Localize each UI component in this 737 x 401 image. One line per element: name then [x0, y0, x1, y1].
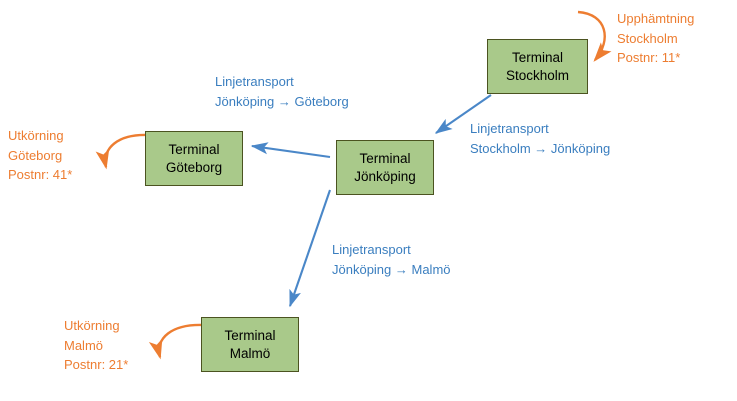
label-sj-route: Stockholm → Jönköping — [470, 139, 610, 159]
annotation-malmo-action: Utkörning — [64, 316, 128, 336]
node-terminal-stockholm[interactable]: Terminal Stockholm — [487, 39, 588, 94]
node-terminal-jonkoping[interactable]: Terminal Jönköping — [336, 140, 434, 195]
node-stockholm-line1: Terminal — [512, 49, 563, 67]
label-jm-type: Linjetransport — [332, 240, 451, 260]
label-jg-type: Linjetransport — [215, 72, 349, 92]
arrow-jonkoping-malmo — [290, 190, 330, 306]
annotation-stockholm-action: Upphämtning — [617, 9, 694, 29]
annotation-goteborg-action: Utkörning — [8, 126, 72, 146]
annotation-goteborg-city: Göteborg — [8, 146, 72, 166]
node-goteborg-line1: Terminal — [168, 141, 219, 159]
node-terminal-goteborg[interactable]: Terminal Göteborg — [145, 131, 243, 186]
annotation-upphamtning-stockholm: Upphämtning Stockholm Postnr: 11* — [617, 9, 694, 68]
label-jg-route: Jönköping → Göteborg — [215, 92, 349, 112]
arrow-utkorning-goteborg — [105, 135, 148, 167]
node-jonkoping-line1: Terminal — [359, 150, 410, 168]
label-jm-route: Jönköping → Malmö — [332, 260, 451, 280]
annotation-stockholm-city: Stockholm — [617, 29, 694, 49]
annotation-stockholm-postnr: Postnr: 11* — [617, 48, 694, 68]
annotation-malmo-city: Malmö — [64, 336, 128, 356]
annotation-goteborg-postnr: Postnr: 41* — [8, 165, 72, 185]
arrow-utkorning-malmo — [159, 325, 203, 357]
node-terminal-malmo[interactable]: Terminal Malmö — [201, 317, 299, 372]
node-jonkoping-line2: Jönköping — [354, 168, 416, 186]
label-linjetransport-jonkoping-malmo: Linjetransport Jönköping → Malmö — [332, 240, 451, 279]
label-sj-type: Linjetransport — [470, 119, 610, 139]
node-stockholm-line2: Stockholm — [506, 67, 569, 85]
annotation-malmo-postnr: Postnr: 21* — [64, 355, 128, 375]
transport-network-diagram: Terminal Stockholm Terminal Göteborg Ter… — [0, 0, 737, 401]
arrow-jonkoping-goteborg — [252, 146, 330, 157]
node-goteborg-line2: Göteborg — [166, 159, 222, 177]
node-malmo-line2: Malmö — [230, 345, 271, 363]
node-malmo-line1: Terminal — [224, 327, 275, 345]
label-linjetransport-jonkoping-goteborg: Linjetransport Jönköping → Göteborg — [215, 72, 349, 111]
annotation-utkorning-malmo: Utkörning Malmö Postnr: 21* — [64, 316, 128, 375]
label-linjetransport-stockholm-jonkoping: Linjetransport Stockholm → Jönköping — [470, 119, 610, 158]
annotation-utkorning-goteborg: Utkörning Göteborg Postnr: 41* — [8, 126, 72, 185]
